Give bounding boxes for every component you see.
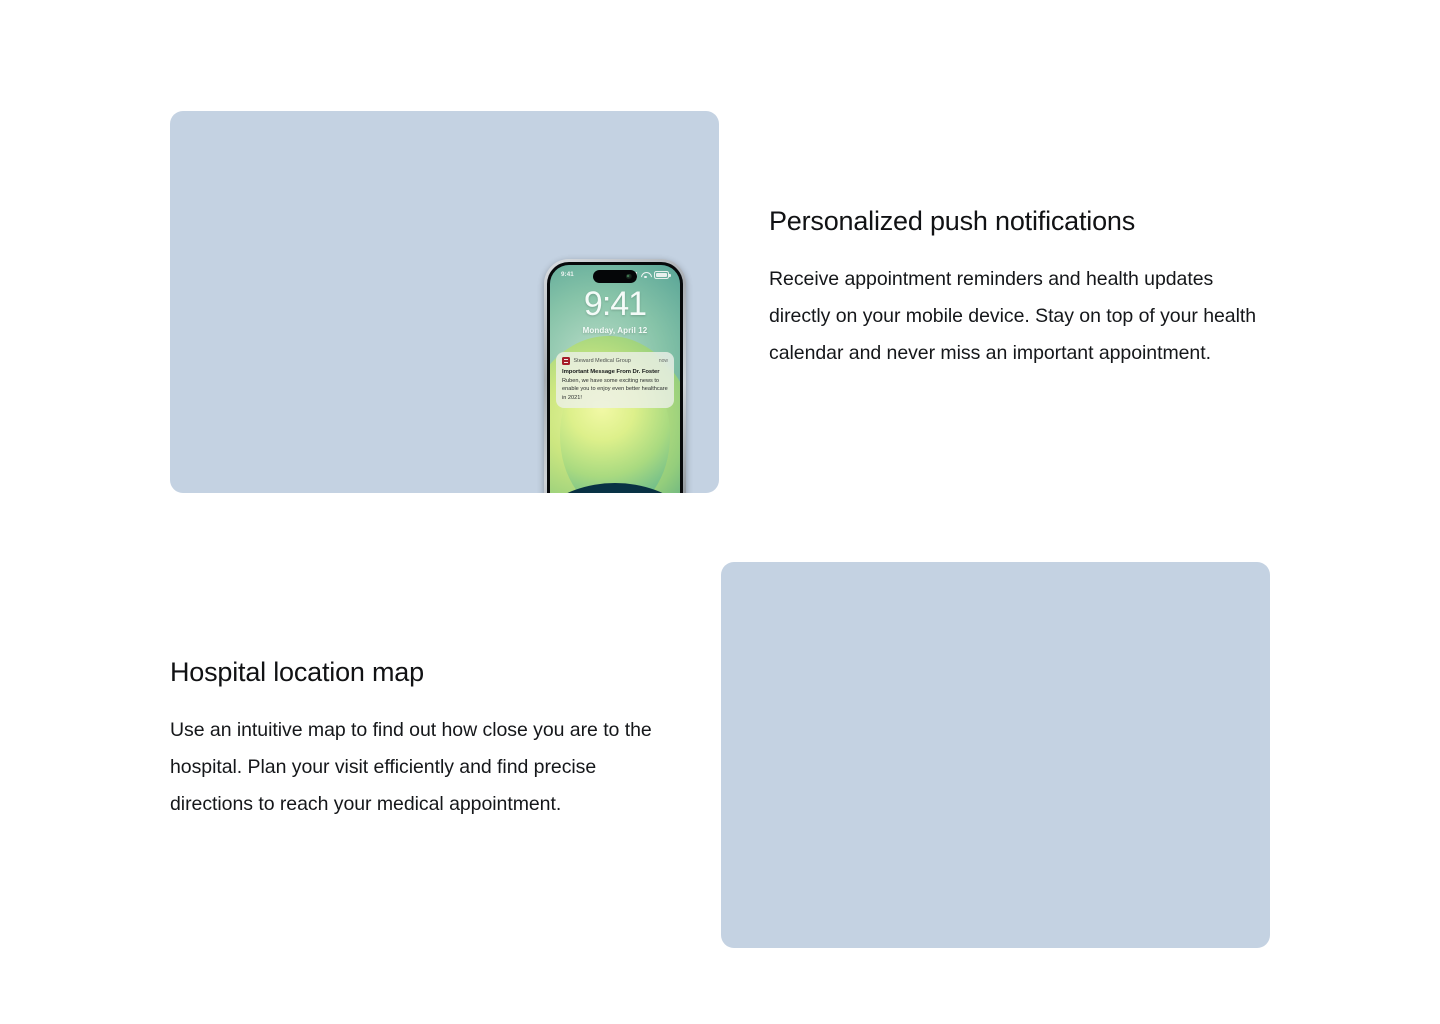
lockscreen-date: Monday, April 12 [550,326,680,335]
notification-body: Ruben, we have some exciting news to ena… [562,377,668,402]
lockscreen-time: 9:41 [550,287,680,321]
feature-showcase-page: 9:41 9:41 Monday, April 12 [0,0,1440,1024]
notification-timestamp: now [659,358,668,364]
push-notification-card[interactable]: Steward Medical Group now Important Mess… [556,352,674,408]
notification-app-name: Steward Medical Group [574,358,656,364]
feature-title-hospital-map: Hospital location map [170,656,670,688]
front-camera-icon [626,274,632,280]
feature-text-hospital-map: Hospital location map Use an intuitive m… [170,656,670,824]
panel-push-notifications: 9:41 9:41 Monday, April 12 [170,111,719,493]
phone-mockup-lockscreen: 9:41 9:41 Monday, April 12 [544,259,686,493]
lockscreen-clock: 9:41 Monday, April 12 [550,287,680,335]
phone-screen-lockscreen: 9:41 9:41 Monday, April 12 [550,265,680,493]
notification-title: Important Message From Dr. Foster [562,369,668,375]
feature-text-push-notifications: Personalized push notifications Receive … [769,205,1269,373]
dynamic-island [593,270,637,283]
panel-hospital-map: Steward Lane Dowlais Rd Wellington Pl Do… [721,562,1270,948]
phone-bezel: 9:41 9:41 Monday, April 12 [547,262,683,493]
feature-body-push-notifications: Receive appointment reminders and health… [769,261,1267,372]
notification-header: Steward Medical Group now [562,357,668,365]
feature-title-push-notifications: Personalized push notifications [769,205,1269,237]
steward-logo-icon [562,357,570,365]
feature-body-hospital-map: Use an intuitive map to find out how clo… [170,712,662,823]
